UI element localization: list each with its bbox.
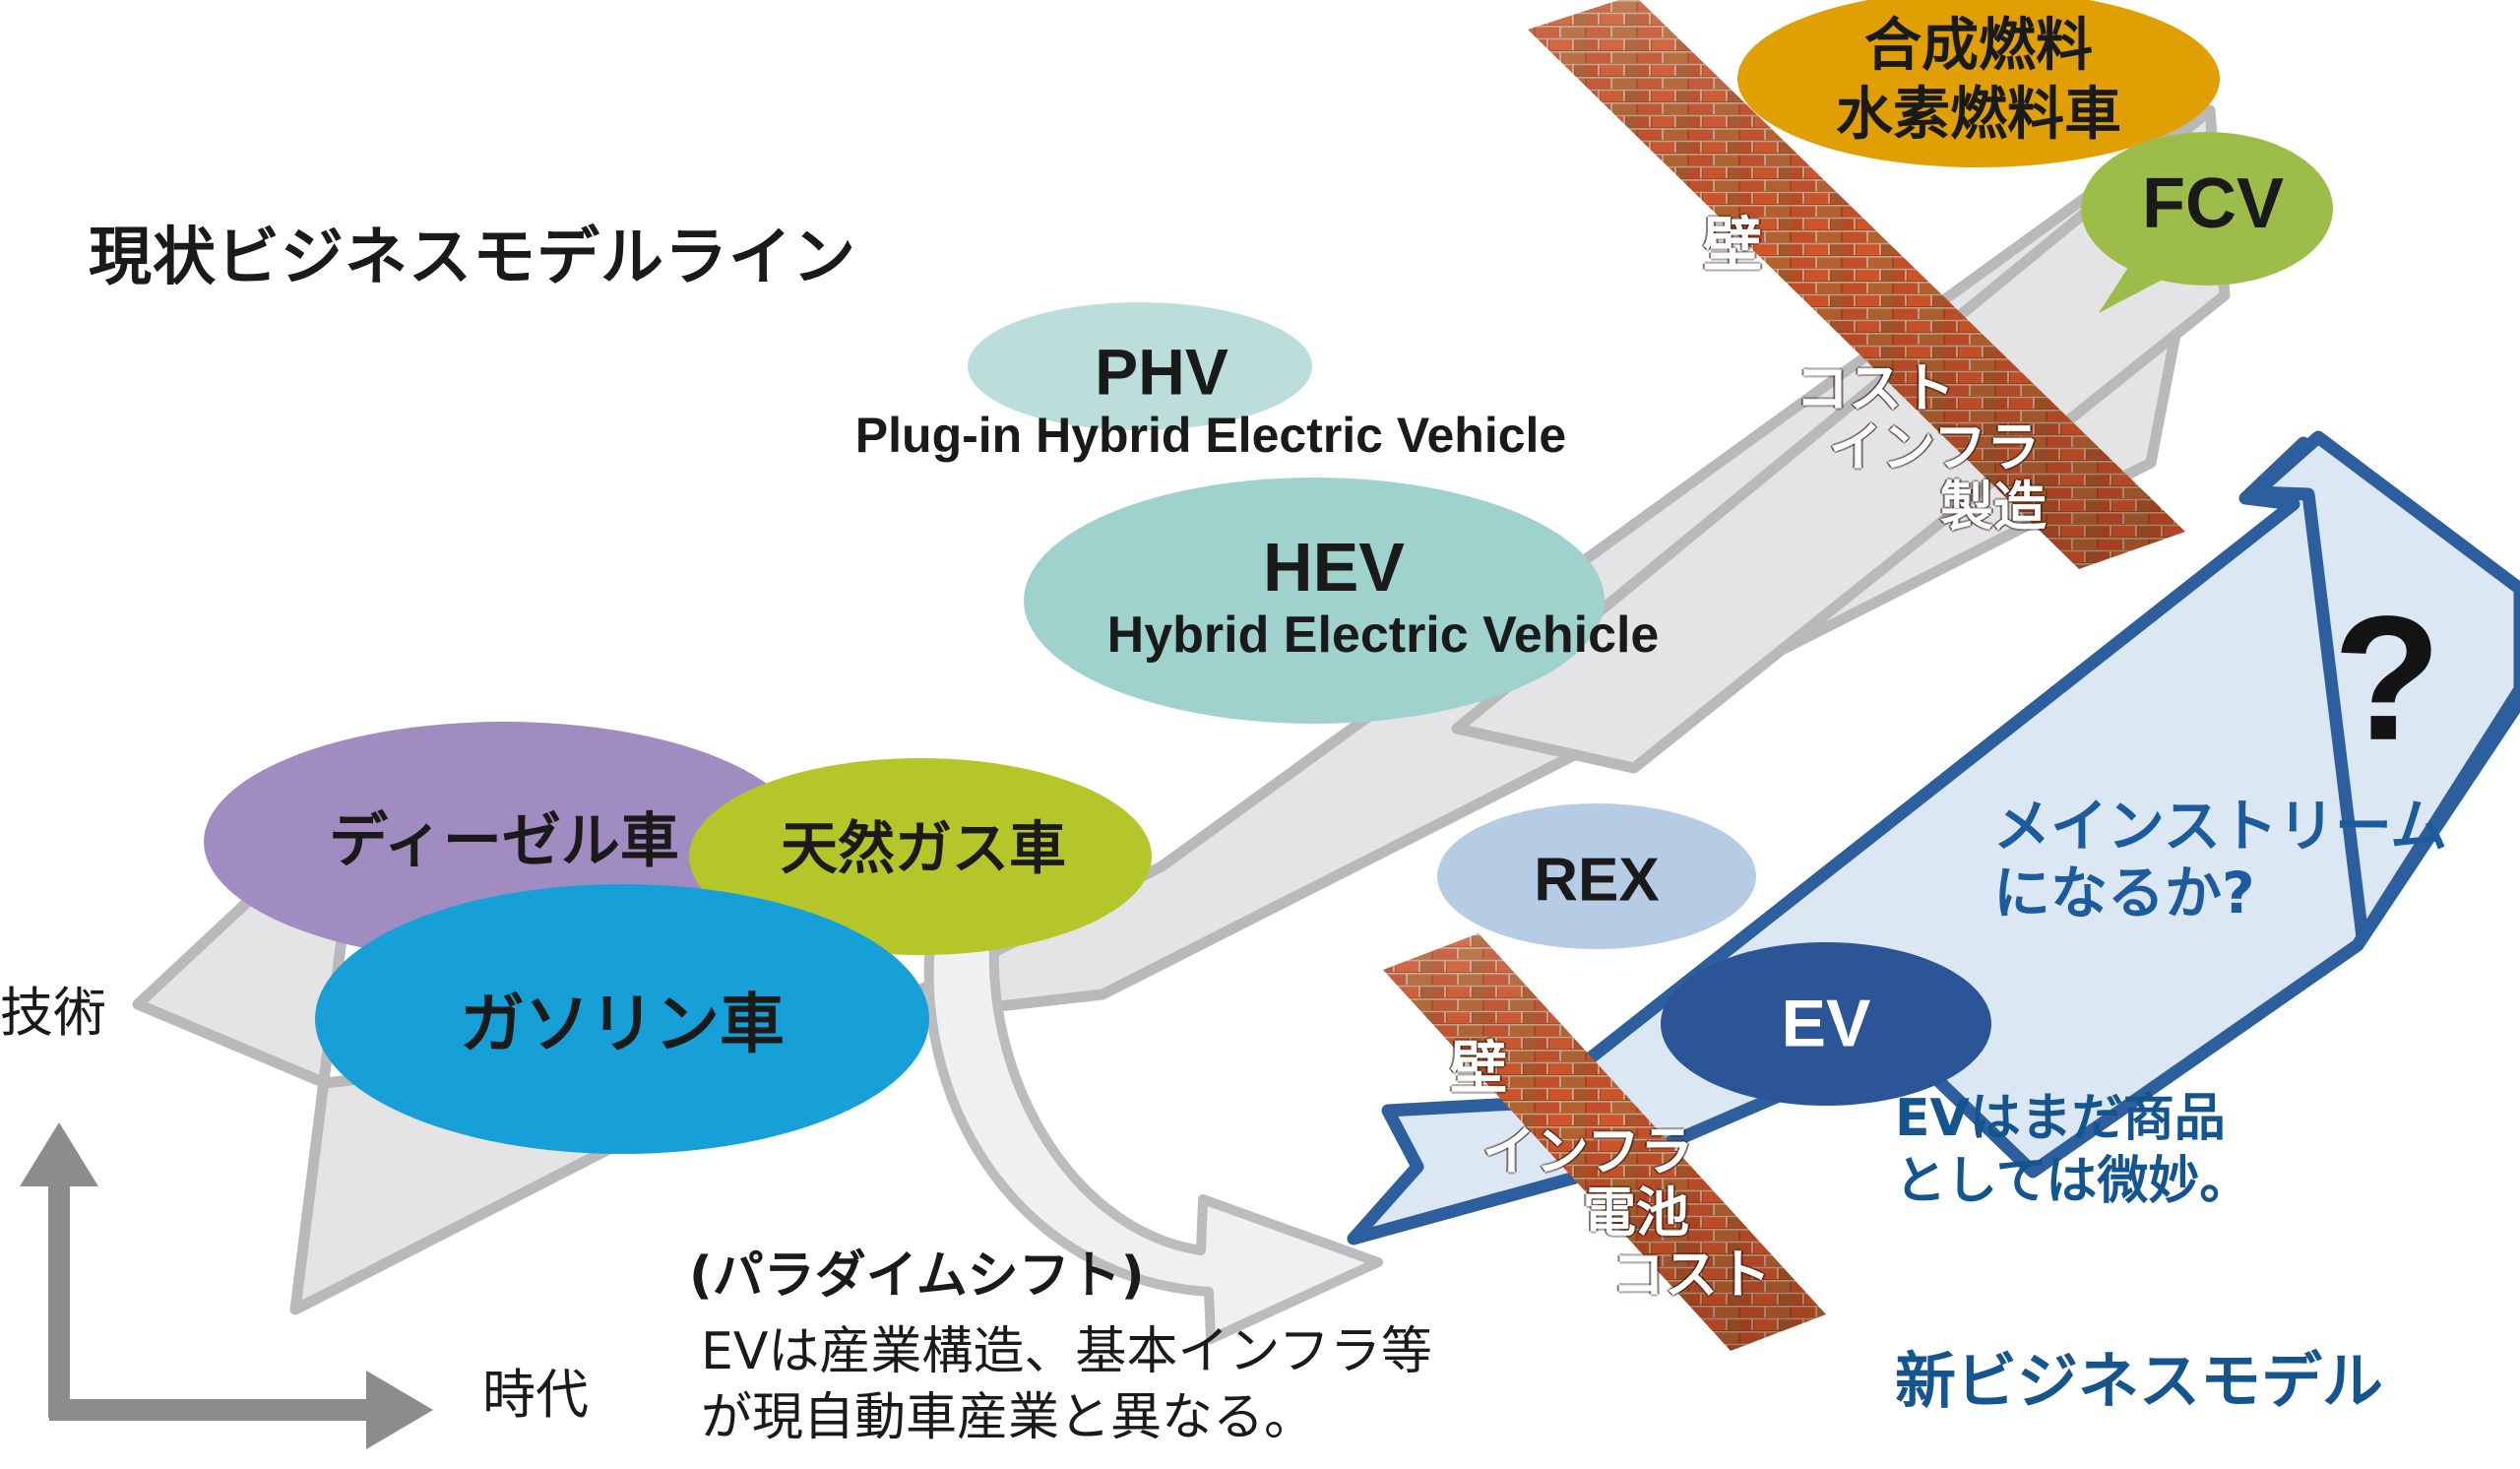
question-banner-line1: メインストリーム — [1993, 796, 2447, 858]
wall-upper-barrier-infra: インフラ — [1829, 419, 2040, 477]
node-label-hev: HEV — [1263, 531, 1405, 606]
wall-upper-barrier-cost: コスト — [1795, 360, 1955, 417]
paradigm-line2: が現自動車産業と異なる。 — [701, 1390, 1315, 1445]
paradigm-line1: EVは産業構造、基本インフラ等 — [701, 1324, 1432, 1379]
axis-label-technology: 技術 — [0, 985, 106, 1042]
wall-lower-barrier-cost: コスト — [1611, 1246, 1771, 1304]
node-label-synth-fuel-line1: 合成燃料 — [1864, 15, 2093, 77]
node-sublabel-phv: Plug-in Hybrid Electric Vehicle — [855, 409, 1566, 462]
wall-lower-label: 壁 — [1450, 1038, 1507, 1100]
ev-note-line1: EVはまだ商品 — [1895, 1091, 2226, 1146]
ev-note-line2: としては微妙。 — [1895, 1154, 2250, 1209]
node-label-natural-gas: 天然ガス車 — [781, 818, 1066, 880]
page-title-current-model: 現状ビジネスモデルライン — [89, 224, 856, 292]
node-label-diesel: ディーゼル車 — [329, 810, 679, 874]
wall-lower-barrier-battery: 電池 — [1583, 1184, 1689, 1242]
node-label-phv: PHV — [1095, 337, 1228, 407]
node-label-gasoline: ガソリン車 — [460, 989, 785, 1058]
diagram-canvas: 現状ビジネスモデルライン 新ビジネスモデル 技術 時代 ディーゼル車 天然ガス車… — [0, 0, 2520, 1469]
question-mark-glyph: ? — [2333, 584, 2441, 775]
page-title-new-model: 新ビジネスモデル — [1895, 1349, 2383, 1415]
axis-label-era: 時代 — [482, 1367, 589, 1424]
node-label-synth-fuel-line2: 水素燃料車 — [1836, 84, 2121, 146]
node-label-ev: EV — [1782, 988, 1871, 1059]
node-sublabel-hev: Hybrid Electric Vehicle — [1107, 607, 1660, 663]
node-label-rex: REX — [1534, 849, 1659, 915]
wall-upper-barrier-manufacturing: 製造 — [1940, 479, 2047, 536]
paradigm-heading: (パラダイムシフト) — [689, 1248, 1145, 1304]
wall-lower-barrier-infra: インフラ — [1482, 1123, 1693, 1181]
question-banner-line2: になるか? — [1993, 862, 2255, 925]
node-label-fcv: FCV — [2142, 166, 2284, 243]
wall-upper-label: 壁 — [1703, 215, 1762, 279]
